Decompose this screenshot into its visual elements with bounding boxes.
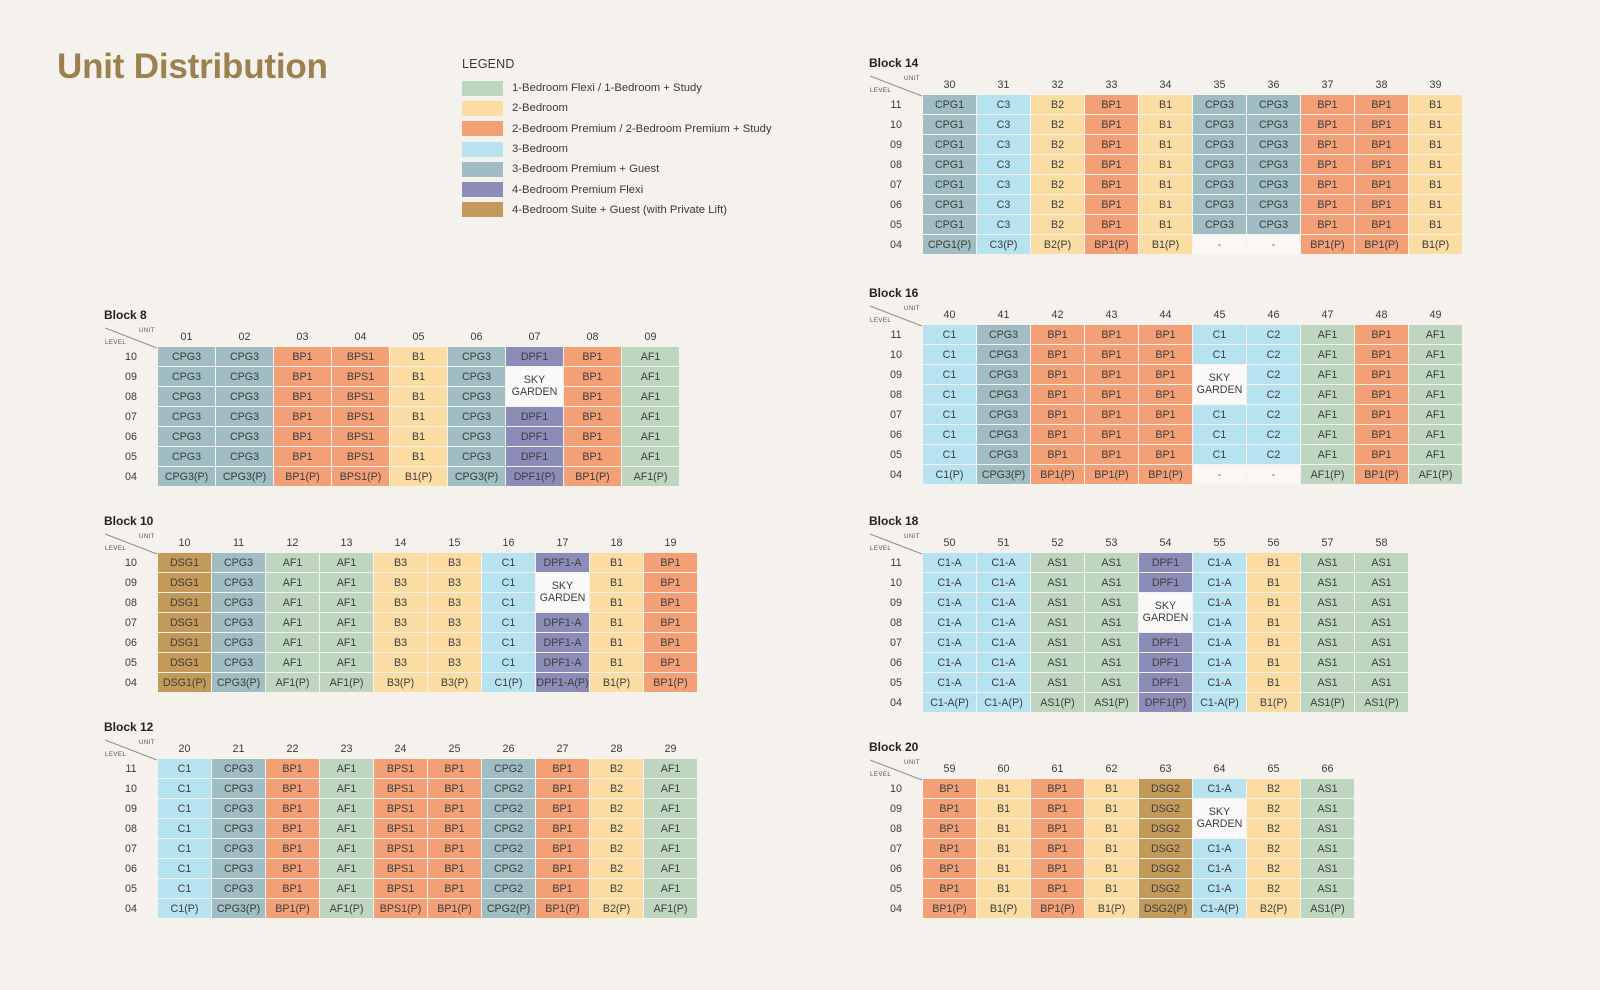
unit-cell[interactable]: BP1 (428, 799, 481, 818)
unit-cell[interactable]: BP1(P) (428, 899, 481, 918)
unit-cell[interactable]: C1-A (977, 653, 1030, 672)
unit-cell[interactable]: BP1(P) (564, 467, 621, 486)
unit-cell[interactable]: CPG3 (977, 385, 1030, 404)
sky-garden-cell[interactable]: SKYGARDEN (536, 573, 589, 612)
unit-cell[interactable]: BP1 (266, 839, 319, 858)
unit-cell[interactable]: CPG3 (158, 407, 215, 426)
unit-cell[interactable]: AF1 (320, 839, 373, 858)
unit-cell[interactable]: B3 (428, 633, 481, 652)
unit-cell[interactable]: CPG3 (212, 859, 265, 878)
unit-cell[interactable]: B2 (590, 799, 643, 818)
unit-cell[interactable]: BP1 (1085, 175, 1138, 194)
unit-cell[interactable]: C1 (1193, 325, 1246, 344)
unit-cell[interactable]: AS1 (1301, 593, 1354, 612)
unit-cell[interactable]: B1 (977, 819, 1030, 838)
unit-cell[interactable]: BP1 (644, 593, 697, 612)
unit-cell[interactable]: AS1 (1301, 819, 1354, 838)
unit-cell[interactable]: B1 (1139, 215, 1192, 234)
unit-cell[interactable]: DPF1 (506, 347, 563, 366)
unit-cell[interactable]: BP1 (266, 859, 319, 878)
unit-cell[interactable]: BP1 (564, 427, 621, 446)
unit-cell[interactable]: B2 (1247, 879, 1300, 898)
unit-cell[interactable]: CPG3 (1193, 115, 1246, 134)
unit-cell[interactable]: B2(P) (1031, 235, 1084, 254)
unit-cell[interactable]: C2 (1247, 365, 1300, 384)
unit-cell[interactable]: BP1 (1031, 405, 1084, 424)
unit-cell[interactable]: AF1 (622, 447, 679, 466)
unit-cell[interactable]: B3 (374, 553, 427, 572)
unit-cell[interactable]: BP1 (1139, 325, 1192, 344)
unit-cell[interactable]: BP1 (1031, 425, 1084, 444)
unit-cell[interactable]: BP1 (274, 347, 331, 366)
unit-cell[interactable]: B1 (1247, 573, 1300, 592)
unit-cell[interactable]: C1 (1193, 425, 1246, 444)
unit-cell[interactable]: AF1 (644, 799, 697, 818)
unit-cell[interactable]: BPS1 (332, 447, 389, 466)
unit-cell[interactable]: CPG3 (212, 839, 265, 858)
unit-cell[interactable]: BP1 (274, 427, 331, 446)
unit-cell[interactable]: BP1 (536, 799, 589, 818)
unit-cell[interactable]: BP1 (1031, 779, 1084, 798)
unit-cell[interactable]: C2 (1247, 445, 1300, 464)
unit-cell[interactable]: B2 (1247, 839, 1300, 858)
unit-cell[interactable]: BP1 (1085, 325, 1138, 344)
unit-cell[interactable]: BP1 (428, 759, 481, 778)
unit-cell[interactable]: BP1 (266, 879, 319, 898)
unit-cell[interactable]: B1 (1085, 819, 1138, 838)
unit-cell[interactable]: C1-A (1193, 653, 1246, 672)
unit-cell[interactable]: BP1 (274, 407, 331, 426)
unit-cell[interactable]: AS1 (1301, 779, 1354, 798)
unit-cell[interactable]: B2 (590, 759, 643, 778)
unit-cell[interactable]: B1(P) (390, 467, 447, 486)
unit-cell[interactable]: CPG3 (216, 407, 273, 426)
unit-cell[interactable]: AS1 (1085, 573, 1138, 592)
unit-cell[interactable]: AS1 (1355, 573, 1408, 592)
unit-cell[interactable]: B1 (1085, 879, 1138, 898)
unit-cell[interactable]: BP1 (564, 407, 621, 426)
unit-cell[interactable]: AF1 (320, 819, 373, 838)
unit-cell[interactable]: BP1 (536, 839, 589, 858)
unit-cell[interactable]: C1 (482, 613, 535, 632)
unit-cell[interactable]: B3(P) (428, 673, 481, 692)
unit-cell[interactable]: CPG2 (482, 859, 535, 878)
unit-cell[interactable]: C1-A (977, 553, 1030, 572)
unit-cell[interactable]: BP1 (644, 633, 697, 652)
unit-cell[interactable]: BP1 (1301, 155, 1354, 174)
unit-cell[interactable]: B3(P) (374, 673, 427, 692)
unit-cell[interactable]: AS1 (1355, 653, 1408, 672)
unit-cell[interactable]: B2 (590, 779, 643, 798)
unit-cell[interactable]: C3 (977, 195, 1030, 214)
unit-cell[interactable]: BP1 (1355, 115, 1408, 134)
unit-cell[interactable]: AF1 (266, 593, 319, 612)
unit-cell[interactable]: BP1(P) (1301, 235, 1354, 254)
unit-cell[interactable]: BPS1 (374, 779, 427, 798)
unit-cell[interactable]: BP1 (1031, 799, 1084, 818)
unit-cell[interactable]: CPG3 (212, 633, 265, 652)
unit-cell[interactable]: BPS1 (374, 819, 427, 838)
unit-cell[interactable]: C1(P) (482, 673, 535, 692)
unit-cell[interactable]: DSG1 (158, 633, 211, 652)
unit-cell[interactable]: B2 (1247, 799, 1300, 818)
unit-cell[interactable]: AF1 (320, 779, 373, 798)
unit-cell[interactable]: AS1 (1031, 633, 1084, 652)
unit-cell[interactable]: CPG3 (1193, 175, 1246, 194)
unit-cell[interactable]: C1 (1193, 345, 1246, 364)
unit-cell[interactable]: BP1 (564, 447, 621, 466)
unit-cell[interactable]: AS1(P) (1031, 693, 1084, 712)
unit-cell[interactable]: CPG3(P) (977, 465, 1030, 484)
unit-cell[interactable]: BP1 (274, 387, 331, 406)
unit-cell[interactable]: CPG3 (158, 447, 215, 466)
unit-cell[interactable]: BP1 (536, 759, 589, 778)
unit-cell[interactable]: BPS1 (332, 427, 389, 446)
unit-cell[interactable]: B2 (1247, 819, 1300, 838)
unit-cell[interactable]: CPG3 (158, 427, 215, 446)
unit-cell[interactable]: AS1 (1355, 673, 1408, 692)
unit-cell[interactable]: BP1 (266, 759, 319, 778)
unit-cell[interactable]: B1 (390, 447, 447, 466)
unit-cell[interactable]: AF1 (320, 573, 373, 592)
unit-cell[interactable]: C1-A (923, 613, 976, 632)
unit-cell[interactable]: C1-A (977, 633, 1030, 652)
unit-cell[interactable]: BP1 (1139, 345, 1192, 364)
unit-cell[interactable]: AS1 (1031, 573, 1084, 592)
unit-cell[interactable]: BP1 (1031, 839, 1084, 858)
unit-cell[interactable]: AS1 (1355, 613, 1408, 632)
unit-cell[interactable]: B2 (1247, 859, 1300, 878)
unit-cell[interactable]: CPG3 (977, 425, 1030, 444)
unit-cell[interactable]: DPF1-A (536, 633, 589, 652)
unit-cell[interactable]: BP1(P) (644, 673, 697, 692)
unit-cell[interactable]: C1-A (923, 653, 976, 672)
unit-cell[interactable]: AF1 (1301, 325, 1354, 344)
unit-cell[interactable]: DPF1 (1139, 553, 1192, 572)
unit-cell[interactable]: AF1 (320, 799, 373, 818)
unit-cell[interactable]: AF1(P) (644, 899, 697, 918)
unit-cell[interactable]: BP1 (1031, 859, 1084, 878)
unit-cell[interactable]: AS1 (1301, 573, 1354, 592)
unit-cell[interactable]: CPG3 (1193, 215, 1246, 234)
unit-cell[interactable]: C1-A (923, 673, 976, 692)
unit-cell[interactable]: B1 (977, 879, 1030, 898)
unit-cell[interactable]: DPF1 (506, 427, 563, 446)
unit-cell[interactable]: AS1 (1085, 673, 1138, 692)
unit-cell[interactable]: C1-A (923, 573, 976, 592)
unit-cell[interactable]: B3 (428, 553, 481, 572)
unit-cell[interactable]: C1-A (1193, 613, 1246, 632)
unit-cell[interactable]: BP1 (1355, 325, 1408, 344)
unit-cell[interactable]: DPF1 (1139, 673, 1192, 692)
unit-cell[interactable]: CPG3 (212, 613, 265, 632)
unit-cell[interactable]: B1 (1139, 155, 1192, 174)
unit-cell[interactable]: AF1 (320, 879, 373, 898)
unit-cell[interactable]: C1-A (1193, 839, 1246, 858)
unit-cell[interactable]: BPS1 (332, 407, 389, 426)
unit-cell[interactable]: BP1 (1085, 425, 1138, 444)
unit-cell[interactable]: C1-A(P) (977, 693, 1030, 712)
unit-cell[interactable]: B1 (590, 613, 643, 632)
unit-cell[interactable]: BP1 (1031, 819, 1084, 838)
unit-cell[interactable]: CPG2 (482, 779, 535, 798)
unit-cell[interactable]: AS1 (1301, 613, 1354, 632)
unit-cell[interactable]: CPG2 (482, 839, 535, 858)
unit-cell[interactable]: DPF1 (1139, 633, 1192, 652)
unit-cell[interactable]: AF1 (622, 407, 679, 426)
unit-cell[interactable]: BP1 (1355, 195, 1408, 214)
unit-cell[interactable]: BP1 (266, 819, 319, 838)
unit-cell[interactable]: C1-A (1193, 633, 1246, 652)
unit-cell[interactable]: AS1 (1031, 673, 1084, 692)
unit-cell[interactable]: BP1 (428, 819, 481, 838)
unit-cell[interactable]: B1 (390, 367, 447, 386)
unit-cell[interactable]: BP1 (1031, 365, 1084, 384)
unit-cell[interactable]: B1 (977, 859, 1030, 878)
unit-cell[interactable]: CPG3 (212, 799, 265, 818)
unit-cell[interactable]: C1-A (977, 673, 1030, 692)
unit-cell[interactable]: C1 (923, 345, 976, 364)
unit-cell[interactable]: B2 (1031, 215, 1084, 234)
unit-cell[interactable]: BPS1 (374, 859, 427, 878)
unit-cell[interactable]: CPG3 (158, 367, 215, 386)
unit-cell[interactable]: CPG3 (212, 779, 265, 798)
unit-cell[interactable]: AF1 (320, 553, 373, 572)
unit-cell[interactable]: BP1 (1301, 195, 1354, 214)
unit-cell[interactable]: B1(P) (977, 899, 1030, 918)
unit-cell[interactable]: BP1 (923, 879, 976, 898)
unit-cell[interactable]: C1-A (923, 593, 976, 612)
unit-cell[interactable]: B1 (590, 653, 643, 672)
unit-cell[interactable]: CPG3 (216, 347, 273, 366)
unit-cell[interactable]: BP1 (1355, 135, 1408, 154)
unit-cell[interactable]: AF1 (644, 759, 697, 778)
unit-cell[interactable]: B2 (590, 859, 643, 878)
unit-cell[interactable]: CPG3 (1193, 135, 1246, 154)
unit-cell[interactable]: C3 (977, 135, 1030, 154)
unit-cell[interactable]: C1 (158, 759, 211, 778)
unit-cell[interactable]: CPG3 (1193, 95, 1246, 114)
unit-cell[interactable]: BP1 (266, 799, 319, 818)
unit-cell[interactable]: AS1 (1085, 553, 1138, 572)
unit-cell[interactable]: B1 (1409, 195, 1462, 214)
unit-cell[interactable]: B2 (590, 879, 643, 898)
unit-cell[interactable]: AF1 (622, 427, 679, 446)
unit-cell[interactable]: BP1 (644, 613, 697, 632)
unit-cell[interactable]: BP1 (1301, 135, 1354, 154)
unit-cell[interactable]: AF1 (644, 839, 697, 858)
unit-cell[interactable]: AS1 (1301, 839, 1354, 858)
unit-cell[interactable]: CPG1 (923, 155, 976, 174)
unit-cell[interactable]: C1-A(P) (923, 693, 976, 712)
unit-cell[interactable]: BP1 (1301, 175, 1354, 194)
unit-cell[interactable]: BP1 (1085, 445, 1138, 464)
unit-cell[interactable]: C1-A (977, 593, 1030, 612)
unit-cell[interactable]: B3 (428, 593, 481, 612)
unit-cell[interactable]: C2 (1247, 325, 1300, 344)
unit-cell[interactable]: BP1 (923, 819, 976, 838)
unit-cell[interactable]: BP1 (1301, 115, 1354, 134)
unit-cell[interactable]: C1-A (923, 633, 976, 652)
unit-cell[interactable]: AF1 (1301, 425, 1354, 444)
unit-cell[interactable]: BP1 (1355, 405, 1408, 424)
unit-cell[interactable]: B3 (374, 593, 427, 612)
unit-cell[interactable]: C1-A (1193, 859, 1246, 878)
unit-cell[interactable]: AS1(P) (1085, 693, 1138, 712)
unit-cell[interactable]: C1 (923, 445, 976, 464)
unit-cell[interactable]: AF1 (1301, 445, 1354, 464)
unit-cell[interactable]: AS1 (1355, 593, 1408, 612)
unit-cell[interactable]: AS1 (1301, 633, 1354, 652)
unit-cell[interactable]: CPG3 (212, 819, 265, 838)
unit-cell[interactable]: DSG1 (158, 593, 211, 612)
unit-cell[interactable]: BP1 (1031, 385, 1084, 404)
unit-cell[interactable]: DSG1 (158, 573, 211, 592)
unit-cell[interactable]: B1 (1139, 175, 1192, 194)
unit-cell[interactable]: BP1 (428, 779, 481, 798)
unit-cell[interactable]: BP1 (1139, 365, 1192, 384)
unit-cell[interactable]: AF1 (320, 653, 373, 672)
unit-cell[interactable]: B1 (1139, 195, 1192, 214)
unit-cell[interactable]: AS1 (1301, 553, 1354, 572)
unit-cell[interactable]: CPG3 (212, 759, 265, 778)
unit-cell[interactable]: B3 (428, 653, 481, 672)
unit-cell[interactable]: B1 (1139, 135, 1192, 154)
unit-cell[interactable]: B1 (1409, 215, 1462, 234)
unit-cell[interactable]: B2 (1031, 175, 1084, 194)
unit-cell[interactable]: CPG3 (448, 427, 505, 446)
unit-cell[interactable]: DPF1-A(P) (536, 673, 589, 692)
unit-cell[interactable]: AS1 (1031, 553, 1084, 572)
unit-cell[interactable]: CPG3(P) (216, 467, 273, 486)
unit-cell[interactable]: BP1 (1085, 195, 1138, 214)
unit-cell[interactable]: BP1 (1031, 879, 1084, 898)
unit-cell[interactable]: AF1 (266, 613, 319, 632)
unit-cell[interactable]: CPG3 (1247, 115, 1300, 134)
unit-cell[interactable]: C1 (158, 879, 211, 898)
unit-cell[interactable]: BP1 (536, 879, 589, 898)
sky-garden-cell[interactable]: SKYGARDEN (1139, 593, 1192, 632)
unit-cell[interactable]: B1 (1085, 839, 1138, 858)
unit-cell[interactable]: BP1 (1085, 385, 1138, 404)
unit-cell[interactable]: B2 (1247, 779, 1300, 798)
unit-cell[interactable]: AS1 (1301, 653, 1354, 672)
unit-cell[interactable]: BPS1 (374, 799, 427, 818)
unit-cell[interactable]: AF1 (1409, 345, 1462, 364)
unit-cell[interactable]: BP1 (923, 799, 976, 818)
unit-cell[interactable]: AF1 (266, 653, 319, 672)
unit-cell[interactable]: AF1 (1409, 405, 1462, 424)
unit-cell[interactable]: B2 (590, 839, 643, 858)
unit-cell[interactable]: BP1 (1085, 135, 1138, 154)
unit-cell[interactable]: BP1 (1139, 425, 1192, 444)
unit-cell[interactable]: CPG2 (482, 759, 535, 778)
unit-cell[interactable]: BP1 (1139, 385, 1192, 404)
unit-cell[interactable]: CPG1 (923, 215, 976, 234)
unit-cell[interactable]: CPG3 (212, 573, 265, 592)
unit-cell[interactable]: BP1(P) (1031, 465, 1084, 484)
unit-cell[interactable]: BPS1(P) (332, 467, 389, 486)
unit-cell[interactable]: B1 (590, 553, 643, 572)
unit-cell[interactable]: CPG3 (1247, 135, 1300, 154)
unit-cell[interactable]: AF1 (320, 633, 373, 652)
unit-cell[interactable]: C3 (977, 215, 1030, 234)
unit-cell[interactable]: AS1 (1031, 593, 1084, 612)
unit-cell[interactable]: BP1(P) (1085, 465, 1138, 484)
unit-cell[interactable]: B1 (1085, 799, 1138, 818)
unit-cell[interactable]: B1 (590, 633, 643, 652)
unit-cell[interactable]: AF1 (644, 819, 697, 838)
unit-cell[interactable]: BP1 (644, 573, 697, 592)
unit-cell[interactable]: AF1 (644, 879, 697, 898)
unit-cell[interactable]: CPG3 (977, 365, 1030, 384)
unit-cell[interactable]: CPG3 (448, 367, 505, 386)
unit-cell[interactable]: BP1 (536, 779, 589, 798)
empty-unit-cell[interactable]: - (1247, 465, 1300, 484)
unit-cell[interactable]: CPG3 (216, 447, 273, 466)
unit-cell[interactable]: CPG3 (212, 653, 265, 672)
unit-cell[interactable]: BP1 (564, 347, 621, 366)
unit-cell[interactable]: BPS1 (332, 347, 389, 366)
unit-cell[interactable]: AF1 (266, 633, 319, 652)
unit-cell[interactable]: C1 (923, 425, 976, 444)
unit-cell[interactable]: CPG2 (482, 799, 535, 818)
unit-cell[interactable]: B1 (1247, 673, 1300, 692)
unit-cell[interactable]: C1 (158, 799, 211, 818)
sky-garden-cell[interactable]: SKYGARDEN (506, 367, 563, 406)
unit-cell[interactable]: BP1 (1031, 345, 1084, 364)
unit-cell[interactable]: AF1 (622, 347, 679, 366)
unit-cell[interactable]: BP1 (428, 859, 481, 878)
unit-cell[interactable]: C1(P) (158, 899, 211, 918)
unit-cell[interactable]: AF1 (1409, 445, 1462, 464)
unit-cell[interactable]: DSG2 (1139, 859, 1192, 878)
unit-cell[interactable]: AF1 (1301, 385, 1354, 404)
unit-cell[interactable]: C1-A (977, 573, 1030, 592)
unit-cell[interactable]: BPS1 (332, 367, 389, 386)
unit-cell[interactable]: CPG1 (923, 115, 976, 134)
unit-cell[interactable]: C3(P) (977, 235, 1030, 254)
unit-cell[interactable]: CPG3 (158, 347, 215, 366)
unit-cell[interactable]: BP1 (1085, 155, 1138, 174)
unit-cell[interactable]: BP1 (266, 779, 319, 798)
unit-cell[interactable]: BP1(P) (923, 899, 976, 918)
unit-cell[interactable]: C1-A (1193, 779, 1246, 798)
unit-cell[interactable]: AF1 (1409, 365, 1462, 384)
unit-cell[interactable]: C1 (1193, 445, 1246, 464)
unit-cell[interactable]: B1 (390, 407, 447, 426)
unit-cell[interactable]: C1-A (1193, 553, 1246, 572)
unit-cell[interactable]: BP1 (536, 819, 589, 838)
unit-cell[interactable]: AF1 (1409, 385, 1462, 404)
unit-cell[interactable]: AS1 (1085, 593, 1138, 612)
unit-cell[interactable]: AF1 (622, 367, 679, 386)
unit-cell[interactable]: AF1(P) (1301, 465, 1354, 484)
unit-cell[interactable]: AF1 (1301, 365, 1354, 384)
unit-cell[interactable]: CPG3 (448, 407, 505, 426)
unit-cell[interactable]: BP1 (923, 779, 976, 798)
unit-cell[interactable]: B1 (1247, 633, 1300, 652)
unit-cell[interactable]: DSG2 (1139, 819, 1192, 838)
unit-cell[interactable]: C1 (923, 385, 976, 404)
unit-cell[interactable]: AF1 (622, 387, 679, 406)
unit-cell[interactable]: CPG3 (216, 387, 273, 406)
unit-cell[interactable]: AS1(P) (1355, 693, 1408, 712)
unit-cell[interactable]: AF1 (320, 613, 373, 632)
unit-cell[interactable]: C1 (158, 779, 211, 798)
unit-cell[interactable]: B1 (1247, 593, 1300, 612)
unit-cell[interactable]: DSG2 (1139, 799, 1192, 818)
